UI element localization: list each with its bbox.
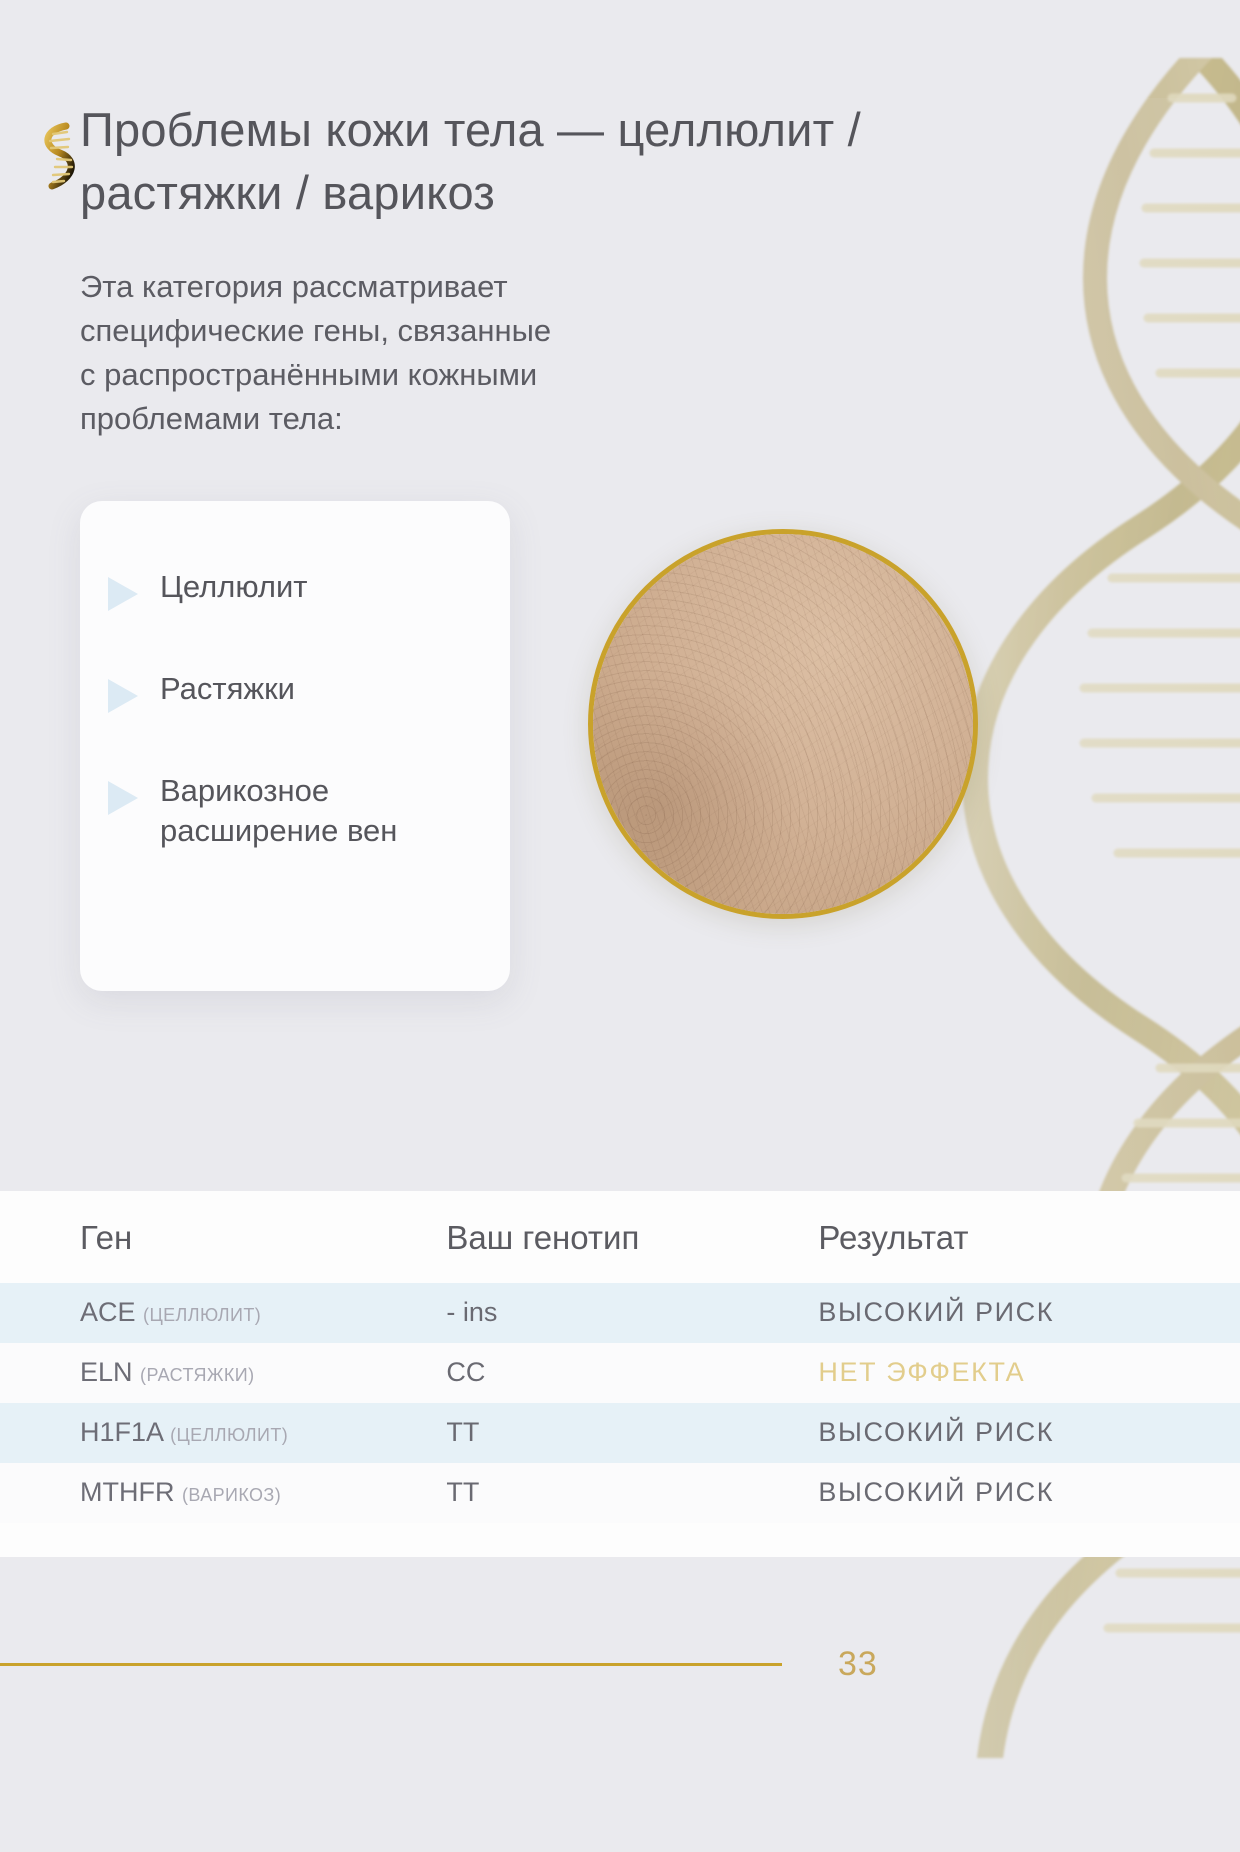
triangle-right-icon bbox=[108, 679, 138, 713]
dna-helix-icon bbox=[26, 120, 88, 194]
gene-name: MTHFR bbox=[80, 1477, 174, 1507]
table-row: MTHFR (ВАРИКОЗ) TT ВЫСОКИЙ РИСК bbox=[0, 1463, 1240, 1523]
gene-results-table: Ген Ваш генотип Результат ACE (ЦЕЛЛЮЛИТ)… bbox=[0, 1191, 1240, 1557]
cell-result: ВЫСОКИЙ РИСК bbox=[818, 1403, 1240, 1463]
gene-note: (ВАРИКОЗ) bbox=[182, 1485, 281, 1505]
gene-note: (ЦЕЛЛЮЛИТ) bbox=[143, 1305, 261, 1325]
gene-note: (РАСТЯЖКИ) bbox=[140, 1365, 254, 1385]
list-item-label: Растяжки bbox=[160, 669, 295, 709]
column-header-genotype: Ваш генотип bbox=[446, 1191, 818, 1283]
cell-genotype: - ins bbox=[446, 1283, 818, 1343]
list-item: Растяжки bbox=[108, 669, 480, 713]
column-header-result: Результат bbox=[818, 1191, 1240, 1283]
gene-note: (ЦЕЛЛЮЛИТ) bbox=[170, 1425, 288, 1445]
page-title: Проблемы кожи тела — целлюлит / растяжки… bbox=[80, 98, 960, 225]
cell-result: ВЫСОКИЙ РИСК bbox=[818, 1283, 1240, 1343]
list-item: Целлюлит bbox=[108, 567, 480, 611]
list-item-label: Целлюлит bbox=[160, 567, 308, 607]
list-item: Варикозное расширение вен bbox=[108, 771, 480, 852]
intro-line-3: с распространёнными кожными bbox=[80, 353, 780, 397]
skin-closeup-photo bbox=[588, 529, 978, 919]
cell-gene: ELN (РАСТЯЖКИ) bbox=[0, 1343, 446, 1403]
table-row: ACE (ЦЕЛЛЮЛИТ) - ins ВЫСОКИЙ РИСК bbox=[0, 1283, 1240, 1343]
gene-name: H1F1A bbox=[80, 1417, 163, 1447]
page-footer: 33 bbox=[0, 1645, 1240, 1684]
gene-name: ELN bbox=[80, 1357, 133, 1387]
page-number: 33 bbox=[838, 1645, 878, 1684]
page-title-line-1: Проблемы кожи тела — bbox=[80, 103, 604, 156]
cell-result: НЕТ ЭФФЕКТА bbox=[818, 1343, 1240, 1403]
table-footer-spacer bbox=[0, 1523, 1240, 1557]
cell-genotype: TT bbox=[446, 1463, 818, 1523]
table-row: H1F1A (ЦЕЛЛЮЛИТ) TT ВЫСОКИЙ РИСК bbox=[0, 1403, 1240, 1463]
intro-paragraph: Эта категория рассматривает специфически… bbox=[80, 265, 780, 441]
gene-name: ACE bbox=[80, 1297, 136, 1327]
cell-genotype: CC bbox=[446, 1343, 818, 1403]
intro-line-1: Эта категория рассматривает bbox=[80, 265, 780, 309]
intro-line-4: проблемами тела: bbox=[80, 397, 780, 441]
cell-gene: H1F1A (ЦЕЛЛЮЛИТ) bbox=[0, 1403, 446, 1463]
slide-content: Проблемы кожи тела — целлюлит / растяжки… bbox=[0, 98, 1240, 1021]
cell-gene: ACE (ЦЕЛЛЮЛИТ) bbox=[0, 1283, 446, 1343]
column-header-gene: Ген bbox=[0, 1191, 446, 1283]
cell-genotype: TT bbox=[446, 1403, 818, 1463]
table-row: ELN (РАСТЯЖКИ) CC НЕТ ЭФФЕКТА bbox=[0, 1343, 1240, 1403]
cell-gene: MTHFR (ВАРИКОЗ) bbox=[0, 1463, 446, 1523]
table-header-row: Ген Ваш генотип Результат bbox=[0, 1191, 1240, 1283]
intro-line-2: специфические гены, связанные bbox=[80, 309, 780, 353]
list-item-label: Варикозное расширение вен bbox=[160, 771, 480, 852]
triangle-right-icon bbox=[108, 577, 138, 611]
conditions-and-photo-block: Целлюлит Растяжки Варикозное расширение … bbox=[80, 501, 1240, 1021]
conditions-card: Целлюлит Растяжки Варикозное расширение … bbox=[80, 501, 510, 991]
triangle-right-icon bbox=[108, 781, 138, 815]
skin-texture bbox=[593, 534, 973, 914]
footer-divider bbox=[0, 1663, 782, 1666]
cell-result: ВЫСОКИЙ РИСК bbox=[818, 1463, 1240, 1523]
